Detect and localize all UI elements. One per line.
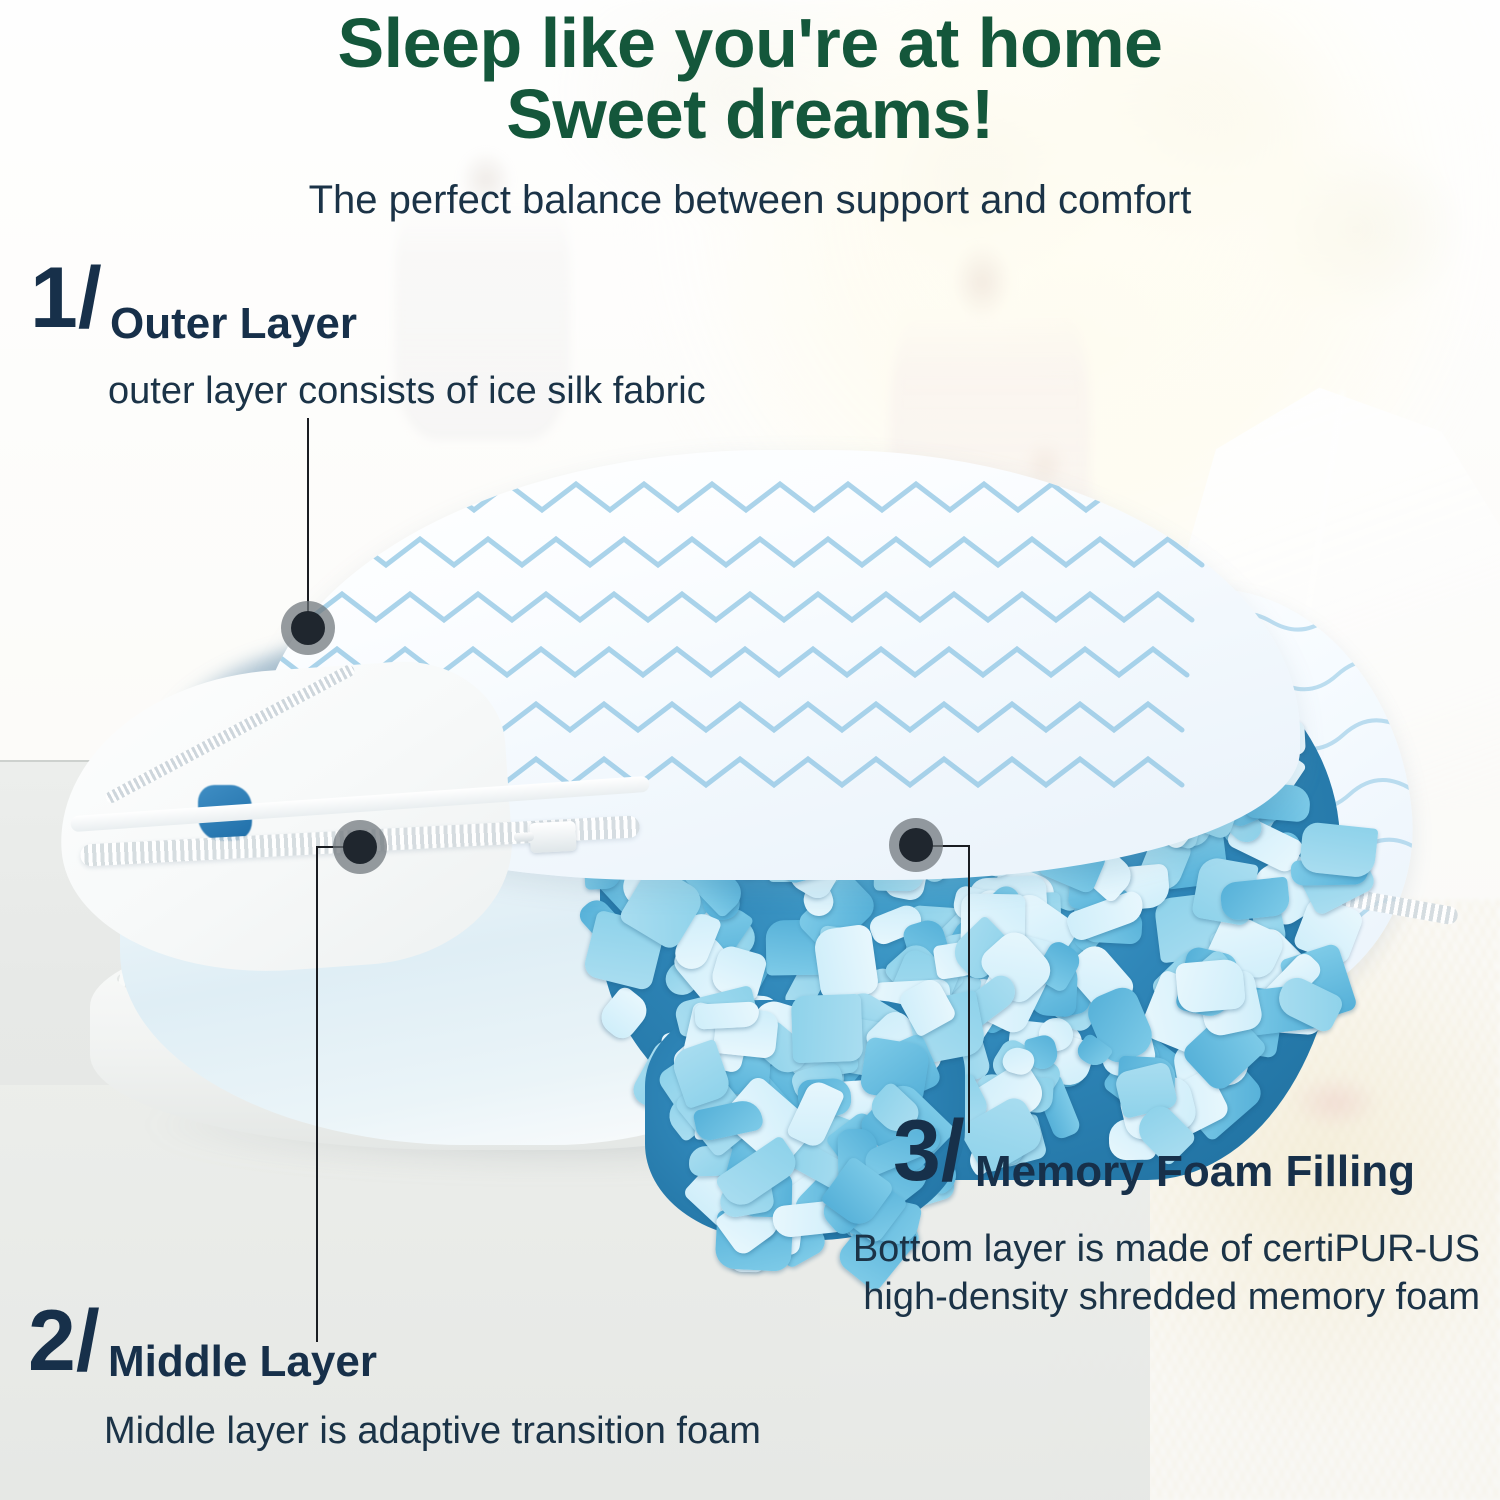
callout-2-leader-line-vertical <box>316 846 318 1342</box>
callout-marker-memory-foam[interactable] <box>889 818 943 872</box>
callout-1-number-slash: / <box>78 250 102 346</box>
foam-chip <box>791 994 864 1063</box>
callout-1-number: 1/ <box>30 255 102 341</box>
foam-chip <box>1219 877 1290 921</box>
callout-1-title: Outer Layer <box>110 302 357 346</box>
page-subheadline: The perfect balance between support and … <box>0 178 1500 223</box>
foam-chip <box>1299 821 1378 879</box>
callout-2-number-slash: / <box>76 1293 100 1389</box>
callout-1-leader-line <box>307 418 309 630</box>
callout-1-number-value: 1 <box>30 250 78 346</box>
callout-3-number-slash: / <box>941 1103 965 1199</box>
pillow-zipper-pull-main <box>529 821 577 853</box>
pillow-product-photo <box>60 440 1400 1140</box>
callout-2-title: Middle Layer <box>108 1340 377 1384</box>
callout-2-number-value: 2 <box>28 1293 76 1389</box>
callout-2-description: Middle layer is adaptive transition foam <box>104 1410 761 1453</box>
callout-1-description: outer layer consists of ice silk fabric <box>108 370 706 413</box>
callout-3-description-line-1: Bottom layer is made of certiPUR-US <box>640 1228 1480 1271</box>
headline-line-2: Sweet dreams! <box>0 79 1500 150</box>
foam-chip <box>812 923 879 1000</box>
callout-3-leader-line-vertical <box>968 845 970 1133</box>
callout-3-description-line-2: high-density shredded memory foam <box>640 1276 1480 1319</box>
callout-marker-middle-layer[interactable] <box>333 820 387 874</box>
callout-3-title: Memory Foam Filling <box>975 1150 1415 1194</box>
infographic-canvas: 1/ Outer Layer outer layer consists of i… <box>0 0 1500 1500</box>
callout-3-number-value: 3 <box>893 1103 941 1199</box>
callout-2-number: 2/ <box>28 1298 100 1384</box>
page-headline: Sleep like you're at home Sweet dreams! <box>0 8 1500 151</box>
foam-chip <box>1175 958 1246 1013</box>
foam-chip <box>694 1001 759 1030</box>
callout-marker-outer-layer[interactable] <box>281 601 335 655</box>
headline-line-1: Sleep like you're at home <box>0 8 1500 79</box>
callout-3-number: 3/ <box>893 1108 965 1194</box>
